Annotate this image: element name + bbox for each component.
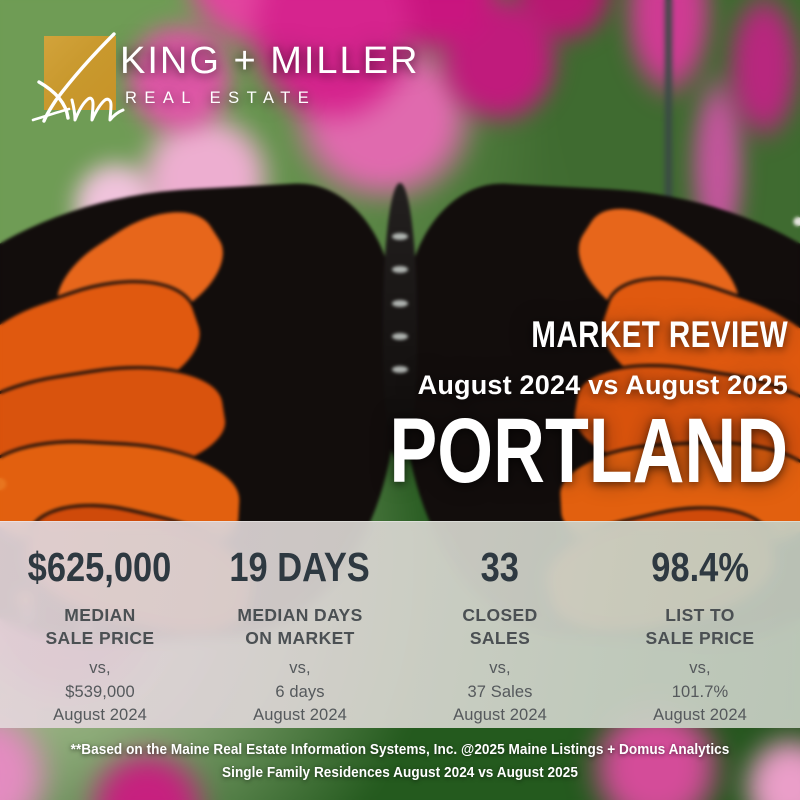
stat-vs-text: vs, bbox=[289, 657, 310, 680]
stat-label-line2: SALES bbox=[462, 627, 537, 650]
stat-vs-text: vs, bbox=[489, 657, 510, 680]
stat-label-line1: CLOSED bbox=[462, 604, 537, 627]
stat-value: 19 DAYS bbox=[230, 547, 370, 588]
km-script-letters bbox=[22, 24, 134, 128]
stat-label: MEDIAN SALE PRICE bbox=[45, 604, 154, 650]
stats-panel: $625,000 MEDIAN SALE PRICE vs, $539,000 … bbox=[0, 521, 800, 728]
footer-disclaimer: **Based on the Maine Real Estate Informa… bbox=[0, 739, 800, 786]
market-review-poster: KING + MILLER REAL ESTATE MARKET REVIEW … bbox=[0, 0, 800, 800]
stat-previous-period: August 2024 bbox=[53, 704, 147, 727]
stat-label: LIST TO SALE PRICE bbox=[645, 604, 754, 650]
headline-city: PORTLAND bbox=[389, 409, 788, 494]
stat-median-sale-price: $625,000 MEDIAN SALE PRICE vs, $539,000 … bbox=[0, 522, 200, 728]
stat-label-line2: ON MARKET bbox=[237, 627, 362, 650]
stat-label-line1: MEDIAN DAYS bbox=[237, 604, 362, 627]
stat-previous-value: 6 days bbox=[275, 681, 324, 704]
brand-logo[interactable]: KING + MILLER REAL ESTATE bbox=[36, 32, 419, 118]
stat-label-line2: SALE PRICE bbox=[45, 627, 154, 650]
brand-wordmark: KING + MILLER REAL ESTATE bbox=[120, 42, 419, 108]
stat-vs-text: vs, bbox=[689, 657, 710, 680]
stat-closed-sales: 33 CLOSED SALES vs, 37 Sales August 2024 bbox=[400, 522, 600, 728]
footer-line-2: Single Family Residences August 2024 vs … bbox=[28, 762, 772, 786]
stat-previous-period: August 2024 bbox=[653, 704, 747, 727]
km-monogram-icon bbox=[36, 32, 122, 118]
stat-label: MEDIAN DAYS ON MARKET bbox=[237, 604, 362, 650]
stat-previous-period: August 2024 bbox=[253, 704, 347, 727]
stat-previous-value: 101.7% bbox=[672, 681, 729, 704]
stat-value: $625,000 bbox=[28, 547, 172, 588]
stat-label-line2: SALE PRICE bbox=[645, 627, 754, 650]
stat-previous-value: $539,000 bbox=[65, 681, 135, 704]
headline-block: MARKET REVIEW August 2024 vs August 2025… bbox=[277, 316, 788, 494]
headline-eyebrow: MARKET REVIEW bbox=[379, 316, 788, 353]
stat-median-days-on-market: 19 DAYS MEDIAN DAYS ON MARKET vs, 6 days… bbox=[200, 522, 400, 728]
stat-value: 33 bbox=[481, 547, 519, 588]
brand-name: KING + MILLER bbox=[120, 42, 419, 80]
stat-previous-value: 37 Sales bbox=[467, 681, 532, 704]
stat-label: CLOSED SALES bbox=[462, 604, 537, 650]
brand-tagline: REAL ESTATE bbox=[125, 89, 419, 108]
stat-previous-period: August 2024 bbox=[453, 704, 547, 727]
stat-label-line1: MEDIAN bbox=[45, 604, 154, 627]
stat-label-line1: LIST TO bbox=[645, 604, 754, 627]
stat-list-to-sale-price: 98.4% LIST TO SALE PRICE vs, 101.7% Augu… bbox=[600, 522, 800, 728]
stat-vs-text: vs, bbox=[89, 657, 110, 680]
headline-comparison: August 2024 vs August 2025 bbox=[277, 372, 788, 399]
footer-line-1: **Based on the Maine Real Estate Informa… bbox=[28, 739, 772, 763]
stat-value: 98.4% bbox=[651, 547, 749, 588]
